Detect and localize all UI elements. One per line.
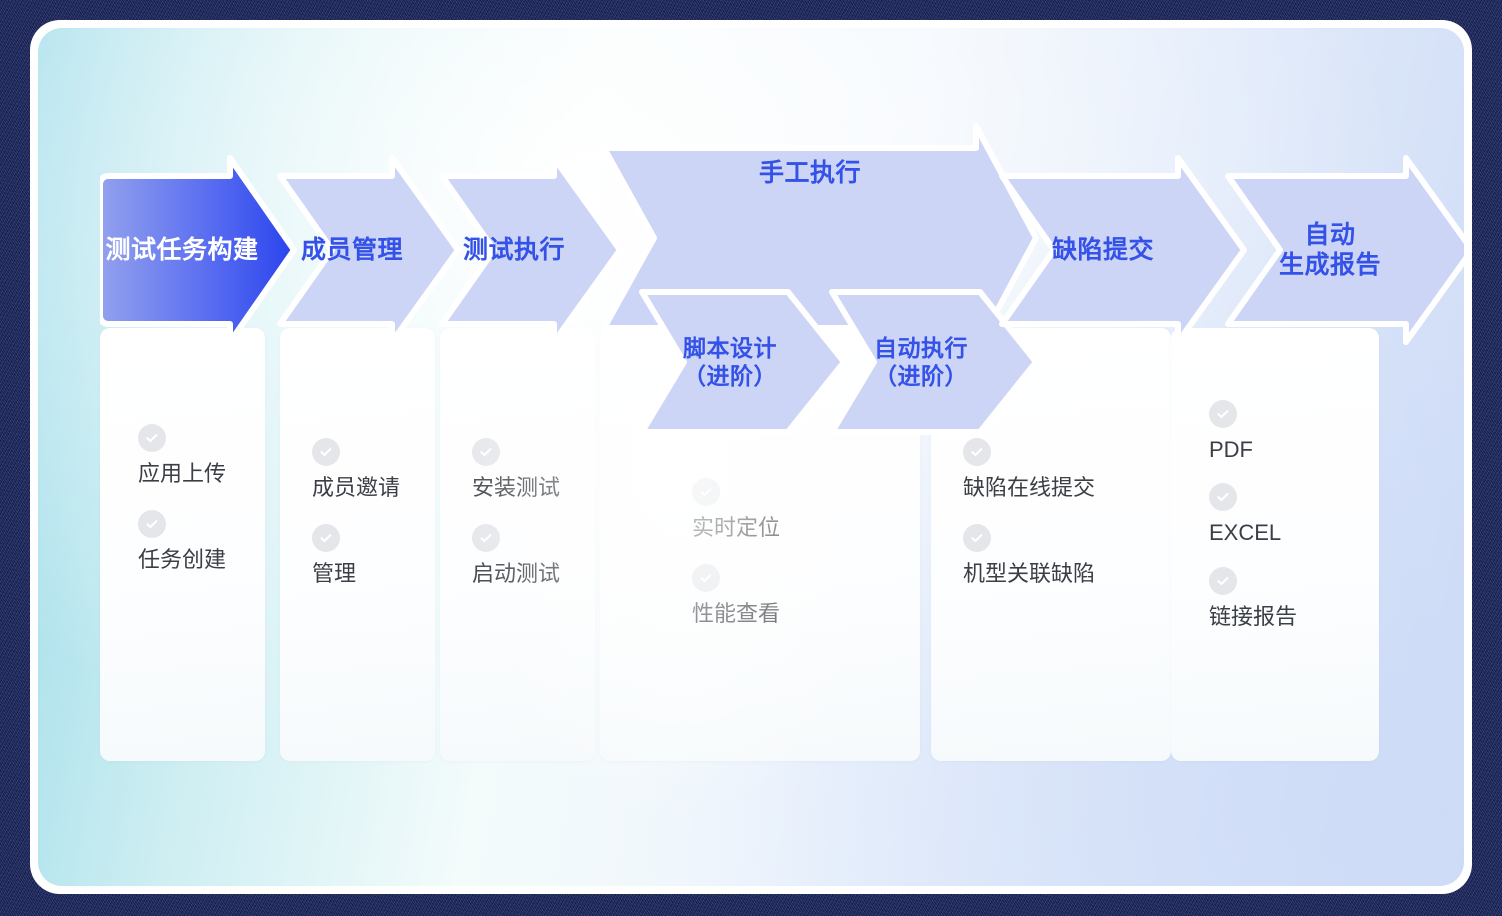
step-arrow-test-task-build[interactable]: 测试任务构建 xyxy=(100,150,300,350)
step-arrow-label: 缺陷提交 xyxy=(1052,235,1154,266)
step-arrow-label: 成员管理 xyxy=(301,235,403,266)
sub-arrow-script-design[interactable]: 脚本设计 （进阶） xyxy=(638,286,848,438)
step-arrow-label: 手工执行 xyxy=(759,158,861,189)
gradient-panel: 应用上传 任务创建 xyxy=(38,28,1464,886)
step-arrow-member-management[interactable]: 成员管理 xyxy=(276,150,462,350)
step-arrow-test-execution[interactable]: 测试执行 xyxy=(438,150,624,350)
white-frame: 应用上传 任务创建 xyxy=(30,20,1472,894)
sub-arrow-label: 自动执行 （进阶） xyxy=(874,334,968,390)
screenshot-root: 应用上传 任务创建 xyxy=(0,0,1502,916)
step-arrow-label: 测试执行 xyxy=(463,235,565,266)
step-arrow-label: 自动 生成报告 xyxy=(1279,220,1381,281)
arrows-layer: 测试任务构建 成员管理 xyxy=(38,28,1464,886)
step-arrow-label: 测试任务构建 xyxy=(105,235,258,266)
sub-arrow-label: 脚本设计 （进阶） xyxy=(683,334,777,390)
step-arrow-auto-report[interactable]: 自动 生成报告 xyxy=(1224,150,1464,350)
step-arrow-defect-submit[interactable]: 缺陷提交 xyxy=(998,150,1248,350)
